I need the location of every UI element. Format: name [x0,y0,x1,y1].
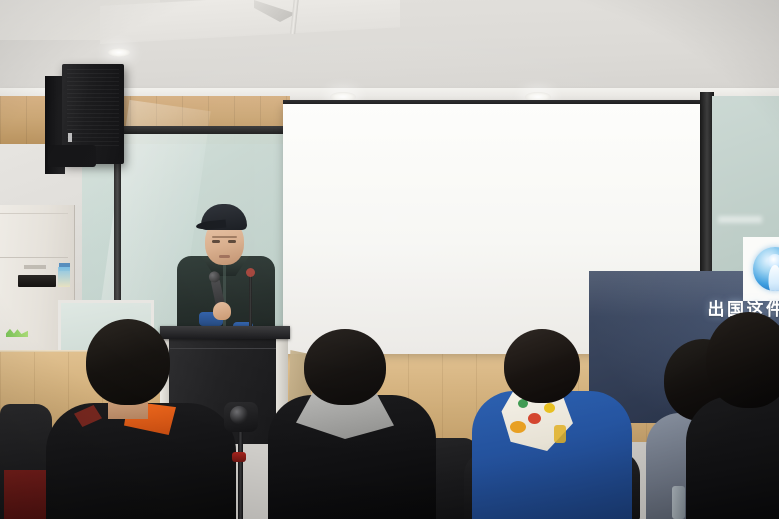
presenter-eye [228,240,236,243]
projection-screen: 出国这件‘小事’ 长沙理工大学国际学院 1801班 柳佳 2021 [283,104,700,354]
audience-jacket [686,396,779,519]
ac-plant-sticker-icon [6,328,28,337]
presenter-eye [212,240,220,243]
graphic-dot [510,421,526,433]
presenter-brow [212,236,237,238]
ac-brand-logo [24,265,46,269]
water-bottle [672,486,685,519]
ac-display-panel[interactable] [18,275,56,287]
audience-head [504,329,580,403]
ceiling-projector-mount [246,0,316,38]
audience-person-2 [268,329,436,519]
audience-head [706,312,779,408]
tripod-knob [232,452,246,462]
audience-person-5 [700,304,779,519]
graphic-dot [554,425,566,443]
downlight-icon [108,48,130,57]
slide-logo-container [743,237,779,301]
speaker-grill [67,68,119,146]
presenter-hand [213,302,231,320]
audience-person-1 [46,319,236,519]
audience-head [304,329,386,405]
ac-seam [0,213,68,214]
ac-seam [0,257,68,258]
camera-lens-icon [230,406,248,424]
mount-arm [290,0,299,34]
presenter-cap [201,204,247,230]
mount-plate [254,0,296,22]
graphic-dot [528,413,541,424]
lecture-hall-photo: 出国这件‘小事’ 长沙理工大学国际学院 1801班 柳佳 2021 [0,0,779,519]
camera-tripod-leg [238,428,243,519]
speaker-led-icon [68,133,72,142]
audience-head [86,319,170,405]
ac-energy-label-icon [58,267,70,287]
graphic-dot [544,403,555,413]
speaker-mount-arm [48,145,96,167]
globe-emblem-icon [753,247,779,291]
presenter-mouth [219,255,230,258]
audience-person-3 [472,329,632,519]
